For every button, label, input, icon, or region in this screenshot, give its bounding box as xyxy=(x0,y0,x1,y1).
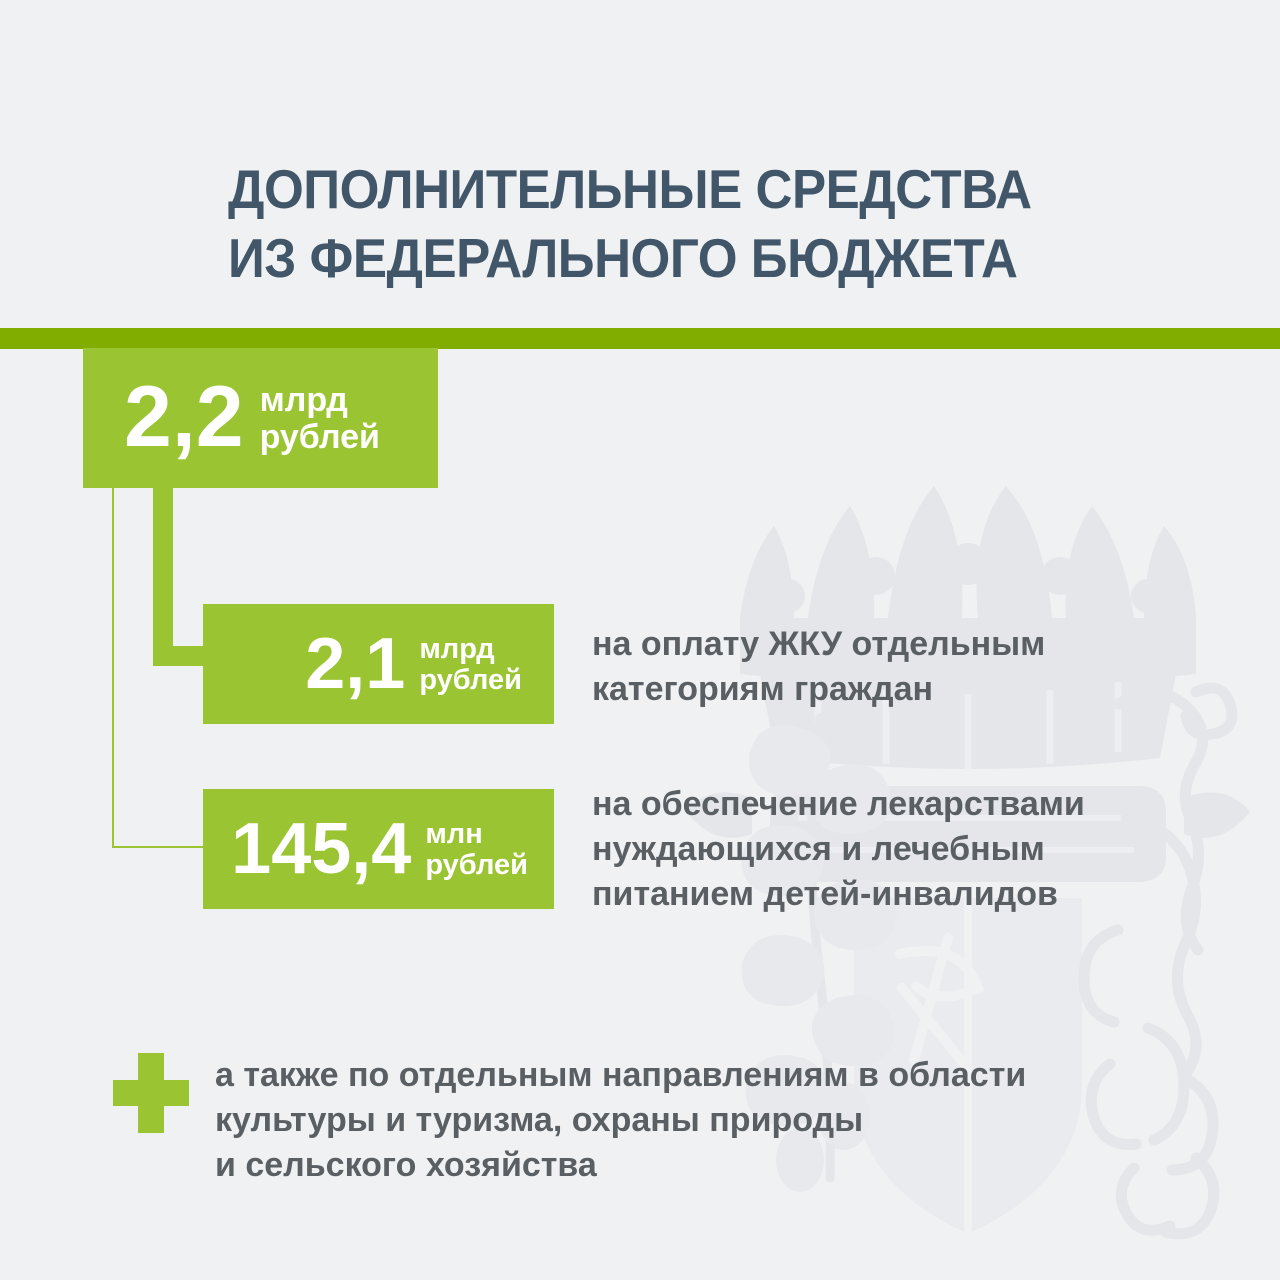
connector-line-vertical xyxy=(153,470,173,666)
footer-note-line-2: культуры и туризма, охраны природы xyxy=(215,1098,1026,1143)
footer-note: а также по отдельным направлениям в обла… xyxy=(215,1053,1026,1189)
item-description: на обеспечение лекарствами нуждающихся и… xyxy=(592,782,1085,917)
item-amount-unit: млрд рублей xyxy=(419,634,522,697)
total-amount-unit: млрд рублей xyxy=(260,382,380,455)
item-unit-line-1: млн xyxy=(425,819,528,850)
item-unit-line-2: рублей xyxy=(425,850,528,881)
total-unit-line-1: млрд xyxy=(260,382,380,419)
item-description-line-1: на обеспечение лекарствами xyxy=(592,782,1085,827)
accent-divider xyxy=(0,328,1280,349)
item-unit-line-1: млрд xyxy=(419,634,522,665)
plus-icon xyxy=(113,1053,189,1133)
plus-icon-vertical-bar xyxy=(138,1053,164,1133)
item-amount-value: 2,1 xyxy=(305,630,405,698)
item-description-line-2: нуждающихся и лечебным xyxy=(592,827,1085,872)
item-description-line-2: категориям граждан xyxy=(592,667,1045,712)
footer-note-line-3: и сельского хозяйства xyxy=(215,1143,1026,1188)
title-line-2: ИЗ ФЕДЕРАЛЬНОГО БЮДЖЕТА xyxy=(228,224,1065,293)
item-amount-unit: млн рублей xyxy=(425,819,528,882)
item-description-line-3: питанием детей-инвалидов xyxy=(592,872,1085,917)
item-amount-box: 145,4 млн рублей xyxy=(203,789,554,909)
title-line-1: ДОПОЛНИТЕЛЬНЫЕ СРЕДСТВА xyxy=(228,155,1065,224)
item-description: на оплату ЖКУ отдельным категориям гражд… xyxy=(592,622,1045,712)
item-description-line-1: на оплату ЖКУ отдельным xyxy=(592,622,1045,667)
total-unit-line-2: рублей xyxy=(260,419,380,456)
infographic-poster: ДОПОЛНИТЕЛЬНЫЕ СРЕДСТВА ИЗ ФЕДЕРАЛЬНОГО … xyxy=(0,0,1280,1280)
total-amount-value: 2,2 xyxy=(124,377,244,459)
page-title: ДОПОЛНИТЕЛЬНЫЕ СРЕДСТВА ИЗ ФЕДЕРАЛЬНОГО … xyxy=(228,155,1065,294)
footer-note-line-1: а также по отдельным направлениям в обла… xyxy=(215,1053,1026,1098)
total-amount-box: 2,2 млрд рублей xyxy=(83,348,438,488)
item-unit-line-2: рублей xyxy=(419,665,522,696)
item-amount-value: 145,4 xyxy=(231,815,411,883)
item-amount-box: 2,1 млрд рублей xyxy=(203,604,554,724)
